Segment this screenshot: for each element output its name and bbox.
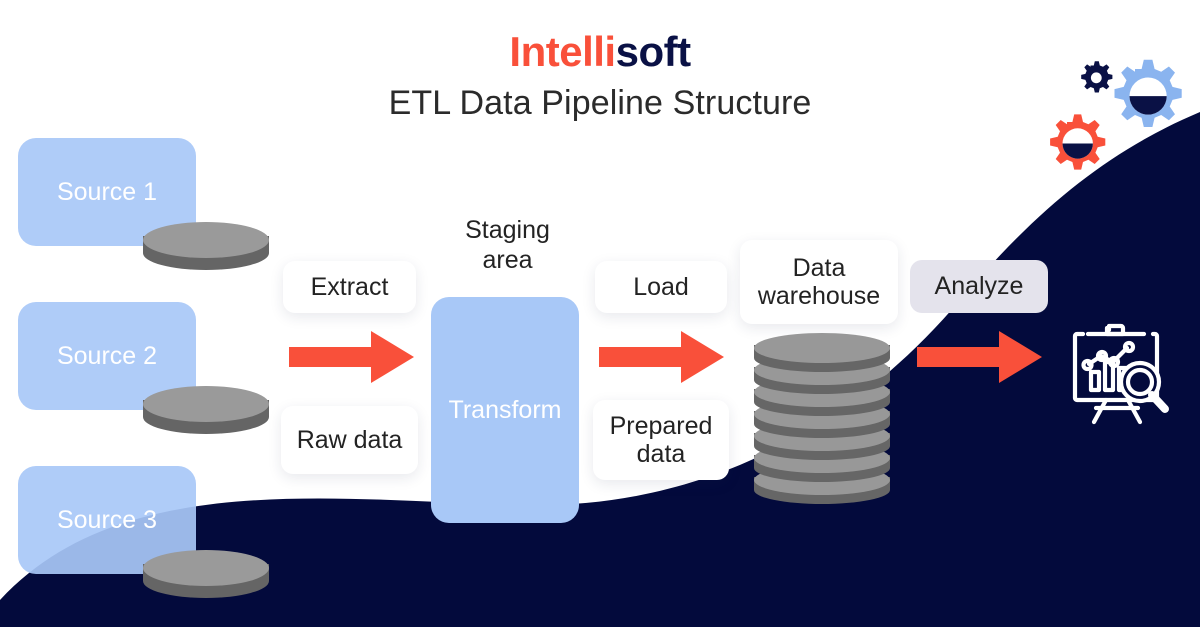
source-box-3-label: Source 3: [57, 506, 157, 535]
label-prepared-data-line2: data: [610, 440, 713, 469]
arrow-right-icon-2: [599, 331, 724, 383]
transform-box-label: Transform: [449, 396, 562, 425]
arrow-right-icon-1: [289, 331, 414, 383]
arrow-right-icon-3: [917, 331, 1042, 383]
label-analyze[interactable]: Analyze: [910, 260, 1048, 313]
label-load[interactable]: Load: [595, 261, 727, 313]
label-raw-data[interactable]: Raw data: [281, 406, 418, 474]
page-title: ETL Data Pipeline Structure: [0, 84, 1200, 123]
label-raw-data-text: Raw data: [297, 426, 403, 455]
brand-logo-part1: Intelli: [509, 28, 615, 75]
label-extract-text: Extract: [311, 273, 389, 302]
cylinder-top: [143, 386, 269, 422]
data-warehouse-stack-icon: [754, 333, 890, 503]
cylinder-top: [143, 222, 269, 258]
caption-staging-area-line1: Staging: [425, 215, 590, 245]
label-load-text: Load: [633, 273, 689, 302]
database-cylinder-icon-1: [143, 222, 269, 284]
label-prepared-data[interactable]: Prepared data: [593, 400, 729, 480]
analytics-board-icon: [1058, 312, 1176, 430]
etl-diagram-canvas: Intellisoft ETL Data Pipeline Structure …: [0, 0, 1200, 627]
label-data-warehouse-line1: Data: [758, 254, 880, 283]
label-extract[interactable]: Extract: [283, 261, 416, 313]
source-box-1-label: Source 1: [57, 178, 157, 207]
label-data-warehouse[interactable]: Data warehouse: [740, 240, 898, 324]
label-data-warehouse-line2: warehouse: [758, 282, 880, 311]
transform-box[interactable]: Transform: [431, 297, 579, 523]
caption-staging-area-line2: area: [425, 245, 590, 275]
cylinder-top: [754, 333, 890, 363]
cylinder-top: [143, 550, 269, 586]
database-cylinder-icon-3: [143, 550, 269, 612]
label-prepared-data-line1: Prepared: [610, 412, 713, 441]
brand-logo: Intellisoft: [0, 28, 1200, 76]
brand-logo-part2: soft: [616, 28, 691, 75]
source-box-2-label: Source 2: [57, 342, 157, 371]
database-cylinder-icon-2: [143, 386, 269, 448]
label-analyze-text: Analyze: [935, 272, 1024, 301]
caption-staging-area: Staging area: [425, 215, 590, 275]
warehouse-disk: [754, 333, 890, 385]
